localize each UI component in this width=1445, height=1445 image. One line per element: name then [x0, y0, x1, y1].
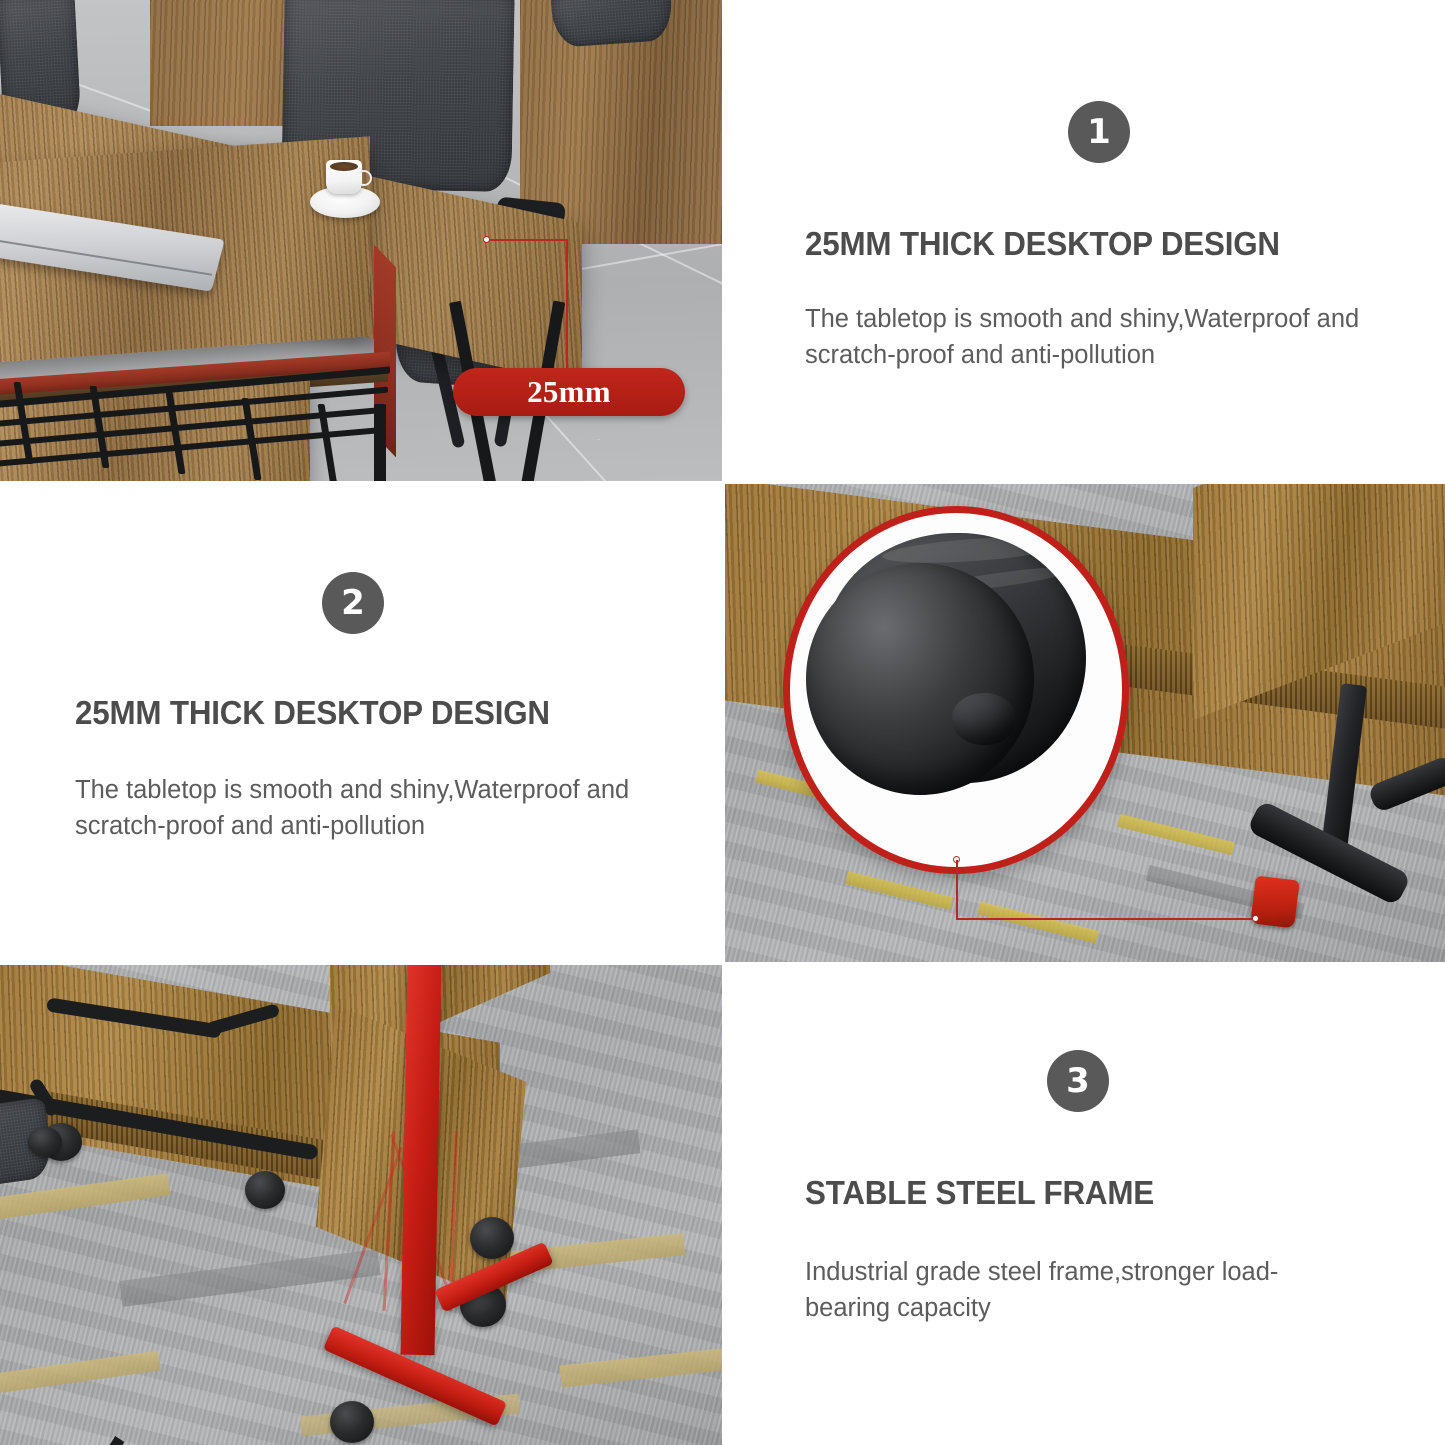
- badge-row-1: 1: [725, 101, 1445, 163]
- feature-body-3: Industrial grade steel frame,stronger lo…: [805, 1254, 1345, 1326]
- callout-anchor-dot: [483, 236, 490, 243]
- caster-leader-vertical: [956, 860, 958, 920]
- feature-title-2: 25MM THICK DESKTOP DESIGN: [75, 694, 690, 732]
- magnifier-circle: [783, 506, 1129, 874]
- feature-panel-3: 3 STABLE STEEL FRAME Industrial grade st…: [725, 965, 1445, 1445]
- caster-axle: [952, 693, 1016, 745]
- callout-leader-horizontal: [490, 239, 568, 241]
- red-steel-leg-post: [401, 965, 442, 1355]
- feature-panel-1: 1 25MM THICK DESKTOP DESIGN The tabletop…: [725, 0, 1445, 481]
- callout-leader-vertical: [566, 239, 568, 371]
- badge-row-2: 2: [0, 572, 722, 634]
- caster-end-dot: [1252, 915, 1259, 922]
- black-caster: [470, 1217, 514, 1259]
- caster-wheel: [806, 563, 1034, 795]
- caster-leader-horizontal: [956, 918, 1256, 920]
- feature-panel-2: 2 25MM THICK DESKTOP DESIGN The tabletop…: [0, 484, 722, 962]
- step-number-badge-2: 2: [322, 572, 384, 634]
- feature-title-3: STABLE STEEL FRAME: [805, 1174, 1413, 1212]
- black-caster: [245, 1171, 285, 1209]
- photo-desktop-thickness: 25mm: [0, 0, 722, 481]
- product-feature-infographic: 25mm 1 25MM THICK DESKTOP DESIGN The tab…: [0, 0, 1445, 1445]
- feature-title-1: 25MM THICK DESKTOP DESIGN: [805, 225, 1413, 263]
- step-number-badge-3: 3: [1047, 1050, 1109, 1112]
- feature-body-2: The tabletop is smooth and shiny,Waterpr…: [75, 772, 640, 844]
- cup-handle: [356, 170, 372, 186]
- table-leg: [374, 404, 386, 481]
- photo-steel-frame: [0, 965, 722, 1445]
- badge-row-3: 3: [725, 1050, 1445, 1112]
- thickness-badge: 25mm: [453, 368, 685, 416]
- chair-caster: [28, 1127, 62, 1157]
- coffee-liquid: [330, 162, 358, 171]
- black-caster: [330, 1401, 374, 1443]
- step-number-badge-1: 1: [1068, 101, 1130, 163]
- feature-body-1: The tabletop is smooth and shiny,Waterpr…: [805, 301, 1365, 373]
- photo-caster-closeup: [725, 484, 1445, 962]
